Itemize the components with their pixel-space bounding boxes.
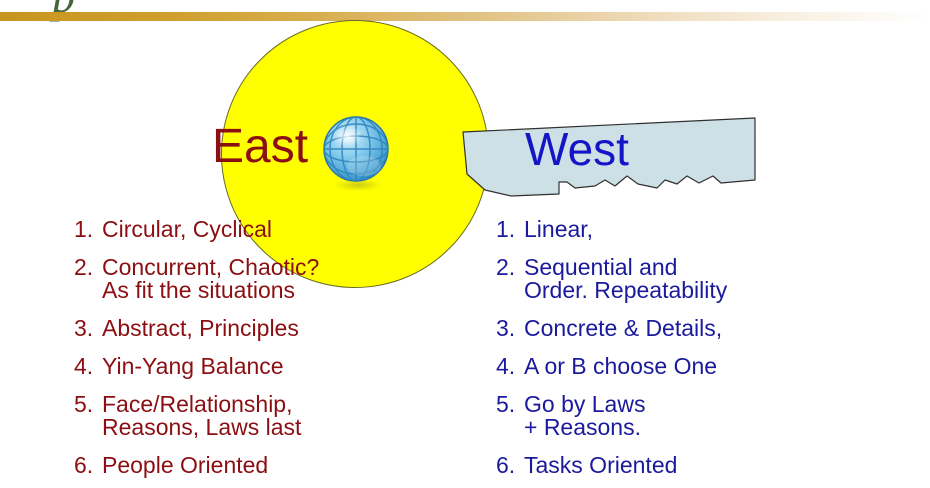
list-item: 1. Linear,	[484, 218, 904, 241]
list-item-number: 3.	[484, 317, 524, 340]
list-item-number: 5.	[62, 393, 102, 416]
list-item: 5. Face/Relationship, Reasons, Laws last	[62, 393, 482, 439]
list-item-text: Circular, Cyclical	[102, 218, 482, 241]
list-item: 2. Concurrent, Chaotic? As fit the situa…	[62, 256, 482, 302]
list-item-text: Concrete & Details,	[524, 317, 904, 340]
list-item: 2. Sequential and Order. Repeatability	[484, 256, 904, 302]
list-item-number: 1.	[62, 218, 102, 241]
list-item-number: 3.	[62, 317, 102, 340]
list-item-text: Abstract, Principles	[102, 317, 482, 340]
list-item: 3. Concrete & Details,	[484, 317, 904, 340]
list-item: 1. Circular, Cyclical	[62, 218, 482, 241]
list-item: 6. Tasks Oriented	[484, 454, 904, 477]
list-item-number: 2.	[484, 256, 524, 279]
west-heading: West	[525, 126, 629, 172]
list-item-text: People Oriented	[102, 454, 482, 477]
list-item-text: Go by Laws + Reasons.	[524, 393, 904, 439]
list-item-number: 6.	[62, 454, 102, 477]
list-item-number: 5.	[484, 393, 524, 416]
list-item-number: 1.	[484, 218, 524, 241]
list-item-text: Tasks Oriented	[524, 454, 904, 477]
list-item-number: 4.	[484, 355, 524, 378]
list-item: 6. People Oriented	[62, 454, 482, 477]
list-item-text: Yin-Yang Balance	[102, 355, 482, 378]
west-list: 1. Linear, 2. Sequential and Order. Repe…	[484, 218, 904, 488]
list-item: 3. Abstract, Principles	[62, 317, 482, 340]
list-item-number: 6.	[484, 454, 524, 477]
slide-canvas: p East West	[0, 0, 930, 488]
list-item-text: Sequential and Order. Repeatability	[524, 256, 904, 302]
list-item-text: Concurrent, Chaotic? As fit the situatio…	[102, 256, 482, 302]
gold-divider-bar	[0, 12, 930, 21]
list-item-text: A or B choose One	[524, 355, 904, 378]
list-item: 5. Go by Laws + Reasons.	[484, 393, 904, 439]
list-item-number: 2.	[62, 256, 102, 279]
list-item-number: 4.	[62, 355, 102, 378]
globe-icon	[320, 114, 394, 194]
east-heading: East	[212, 123, 308, 171]
list-item: 4. A or B choose One	[484, 355, 904, 378]
east-list: 1. Circular, Cyclical 2. Concurrent, Cha…	[62, 218, 482, 488]
list-item-text: Face/Relationship, Reasons, Laws last	[102, 393, 482, 439]
list-item: 4. Yin-Yang Balance	[62, 355, 482, 378]
list-item-text: Linear,	[524, 218, 904, 241]
